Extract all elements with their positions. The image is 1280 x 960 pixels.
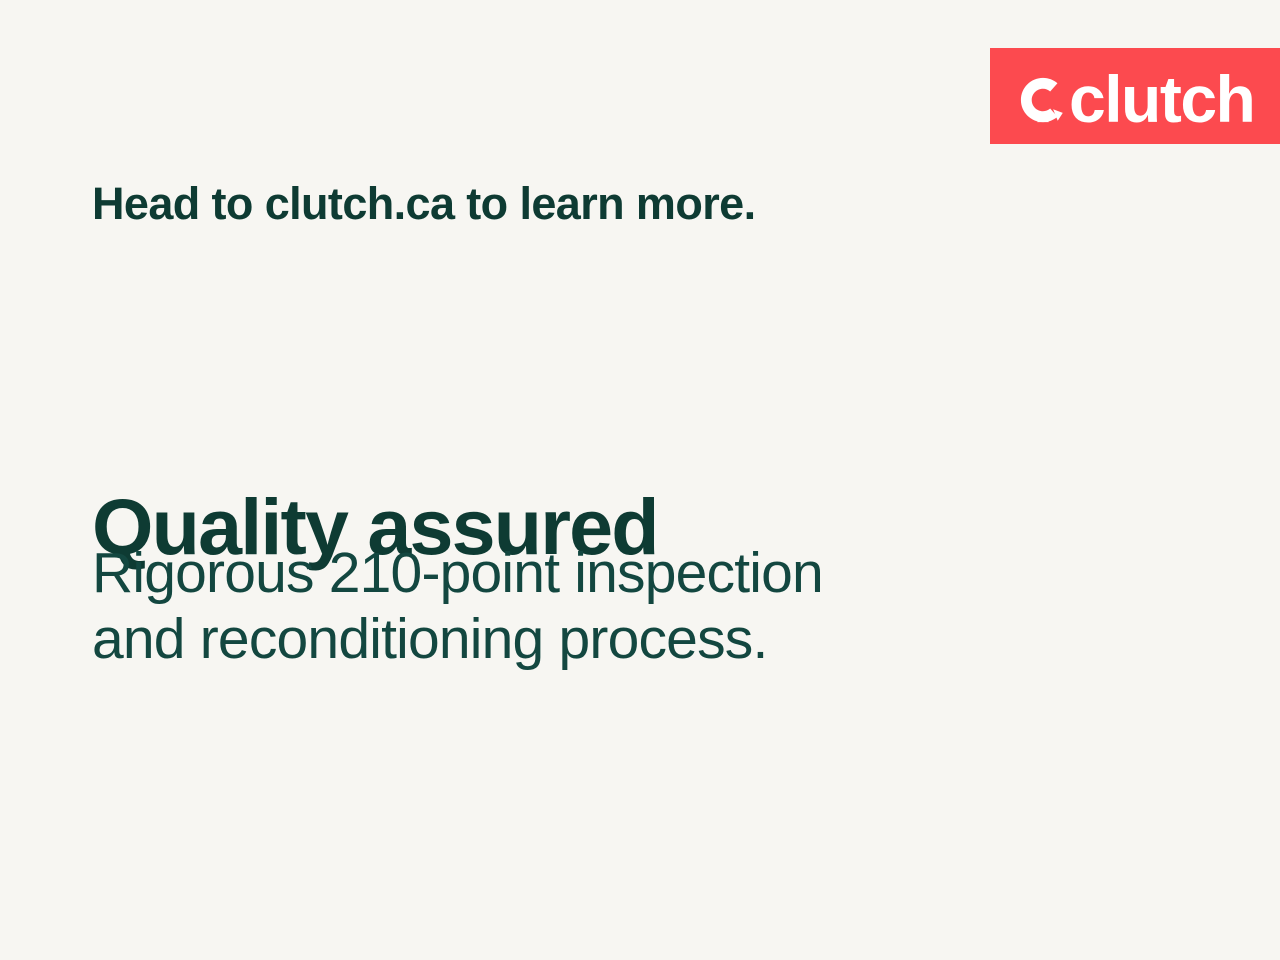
body-copy: Rigorous 210-point inspection and recond… <box>92 541 823 672</box>
tagline-text: Head to clutch.ca to learn more. <box>92 178 755 230</box>
clutch-logo-badge: clutch <box>990 48 1280 144</box>
body-copy-line-2: and reconditioning process. <box>92 607 823 673</box>
clutch-c-mark-icon <box>1020 77 1066 123</box>
logo-lockup: clutch <box>1020 48 1254 144</box>
slide-canvas: clutch Head to clutch.ca to learn more. … <box>0 0 1280 960</box>
body-copy-line-1: Rigorous 210-point inspection <box>92 541 823 607</box>
logo-wordmark: clutch <box>1069 66 1254 132</box>
